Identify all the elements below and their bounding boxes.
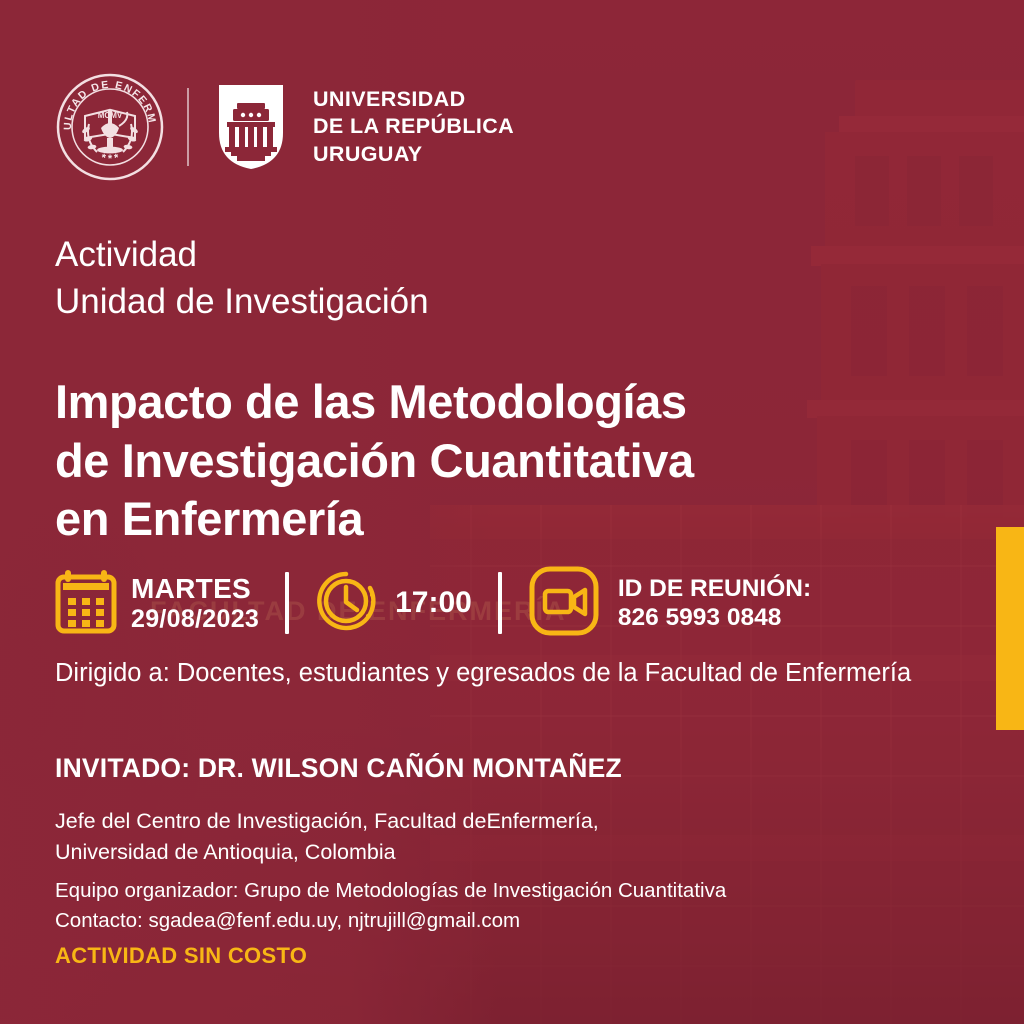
event-time-value: 17:00: [395, 586, 472, 620]
free-activity-notice: ACTIVIDAD SIN COSTO: [55, 943, 307, 969]
guest-speaker-name: INVITADO: DR. WILSON CAÑÓN MONTAÑEZ: [55, 753, 622, 784]
event-time-block: 17:00: [315, 570, 472, 637]
meeting-id-text: ID DE REUNIÓN: 826 5993 0848: [618, 574, 811, 633]
clock-icon: [315, 570, 377, 637]
title-line-1: Impacto de las Metodologías: [55, 373, 694, 431]
event-date-value: 29/08/2023: [131, 605, 259, 633]
svg-text:FACULTAD DE ENFERMERÍA: FACULTAD DE ENFERMERÍA: [55, 72, 158, 130]
event-date-text: MARTES 29/08/2023: [131, 573, 259, 632]
guest-speaker-role: Jefe del Centro de Investigación, Facult…: [55, 806, 599, 867]
logo-lockup: FACULTAD DE ENFERMERÍA * * * MCMV: [55, 72, 514, 182]
svg-text:* * *: * * *: [100, 152, 121, 165]
contact-emails: Contacto: sgadea@fenf.edu.uy, njtrujill@…: [55, 906, 726, 936]
logo-divider: [187, 88, 189, 166]
university-name: UNIVERSIDAD DE LA REPÚBLICA URUGUAY: [313, 86, 514, 167]
faculty-seal-logo: FACULTAD DE ENFERMERÍA * * * MCMV: [55, 72, 165, 182]
page-title: Impacto de las Metodologías de Investiga…: [55, 373, 694, 548]
details-divider-2: [498, 572, 502, 634]
calendar-icon: [55, 568, 117, 639]
event-poster: FACULTAD DE ENFERMERÍA FACULTAD DE ENFER…: [0, 0, 1024, 1024]
kicker-line-1: Actividad: [55, 232, 429, 279]
university-line-1: UNIVERSIDAD: [313, 86, 514, 113]
meeting-id-value: 826 5993 0848: [618, 603, 811, 632]
university-line-3: URUGUAY: [313, 141, 514, 168]
event-weekday: MARTES: [131, 573, 259, 604]
university-line-2: DE LA REPÚBLICA: [313, 113, 514, 140]
svg-text:MCMV: MCMV: [98, 111, 123, 120]
audience-line: Dirigido a: Docentes, estudiantes y egre…: [55, 659, 911, 688]
udelar-shield-logo: [215, 81, 287, 173]
guest-role-line-1: Jefe del Centro de Investigación, Facult…: [55, 806, 599, 837]
meeting-id-label: ID DE REUNIÓN:: [618, 574, 811, 603]
guest-role-line-2: Universidad de Antioquia, Colombia: [55, 837, 599, 868]
title-line-3: en Enfermería: [55, 490, 694, 548]
event-date-block: MARTES 29/08/2023: [55, 568, 259, 639]
video-camera-icon: [528, 565, 600, 642]
organizer-block: Equipo organizador: Grupo de Metodología…: [55, 876, 726, 935]
meeting-id-block: ID DE REUNIÓN: 826 5993 0848: [528, 565, 811, 642]
activity-kicker: Actividad Unidad de Investigación: [55, 232, 429, 325]
kicker-line-2: Unidad de Investigación: [55, 279, 429, 326]
organizer-team: Equipo organizador: Grupo de Metodología…: [55, 876, 726, 906]
title-line-2: de Investigación Cuantitativa: [55, 432, 694, 490]
details-divider-1: [285, 572, 289, 634]
event-details-bar: MARTES 29/08/2023: [55, 563, 811, 643]
